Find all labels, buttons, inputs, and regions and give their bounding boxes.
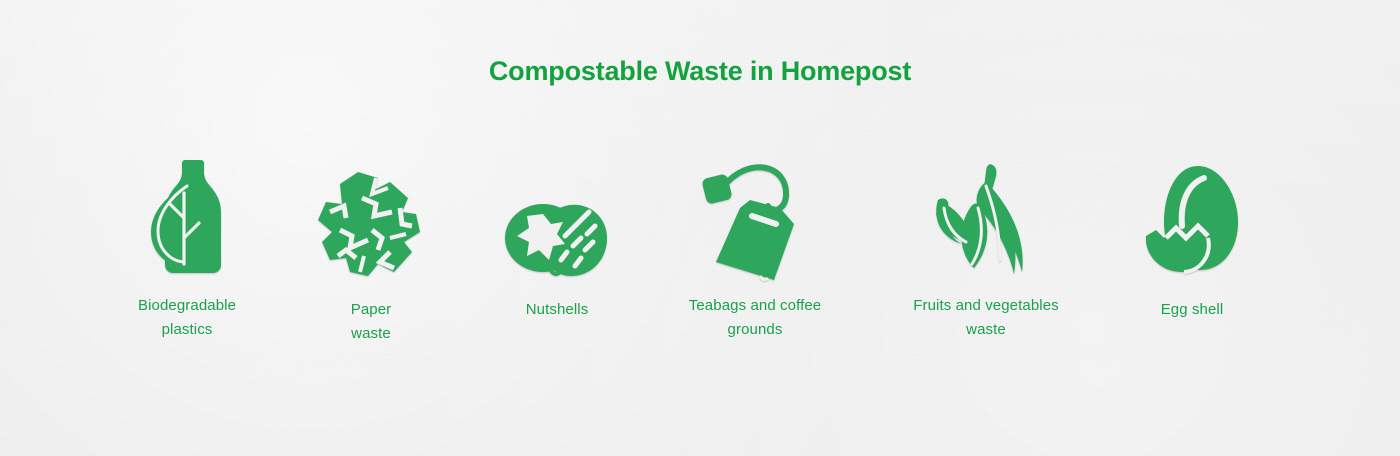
label-line-1: Teabags and coffee [689, 297, 821, 314]
waste-item-nutshells[interactable]: Nutshells [457, 150, 657, 380]
label-line-1: Fruits and vegetables [913, 297, 1059, 314]
label-line-1: Paper [351, 301, 392, 318]
icon-container [87, 150, 287, 280]
waste-item-label: Nutshells [457, 298, 657, 322]
bottle-with-leaf-icon [139, 160, 235, 280]
waste-item-label: Teabags and coffee grounds [655, 294, 855, 342]
page-title: Compostable Waste in Homepost [0, 56, 1400, 87]
crumpled-paper-icon [316, 168, 426, 280]
icon-container [655, 150, 855, 280]
label-line-2: waste [886, 318, 1086, 342]
icon-container [1092, 150, 1292, 280]
label-line-2: waste [271, 322, 471, 346]
teabag-icon [702, 158, 808, 280]
waste-item-egg-shell[interactable]: Egg shell [1092, 150, 1292, 380]
waste-item-paper-waste[interactable]: Paper waste [271, 150, 471, 380]
waste-item-label: Fruits and vegetables waste [886, 294, 1086, 342]
banana-peel-icon [928, 164, 1044, 280]
waste-item-fruits-vegetables-waste[interactable]: Fruits and vegetables waste [886, 150, 1086, 380]
egg-shell-icon [1142, 164, 1242, 280]
waste-item-teabags-coffee-grounds[interactable]: Teabags and coffee grounds [655, 150, 855, 380]
label-line-2: grounds [655, 318, 855, 342]
waste-item-biodegradable-plastics[interactable]: Biodegradable plastics [87, 150, 287, 380]
waste-item-label: Egg shell [1092, 298, 1292, 322]
icon-container [886, 150, 1086, 280]
icon-container [271, 150, 471, 280]
waste-item-label: Paper waste [271, 298, 471, 346]
waste-item-label: Biodegradable plastics [87, 294, 287, 342]
label-line-1: Nutshells [526, 301, 589, 318]
compostable-waste-infographic: Compostable Waste in Homepost [0, 0, 1400, 456]
label-line-1: Egg shell [1161, 301, 1224, 318]
waste-category-list: Biodegradable plastics [0, 150, 1400, 380]
nutshells-icon [503, 196, 611, 280]
icon-container [457, 150, 657, 280]
label-line-1: Biodegradable [138, 297, 236, 314]
label-line-2: plastics [87, 318, 287, 342]
